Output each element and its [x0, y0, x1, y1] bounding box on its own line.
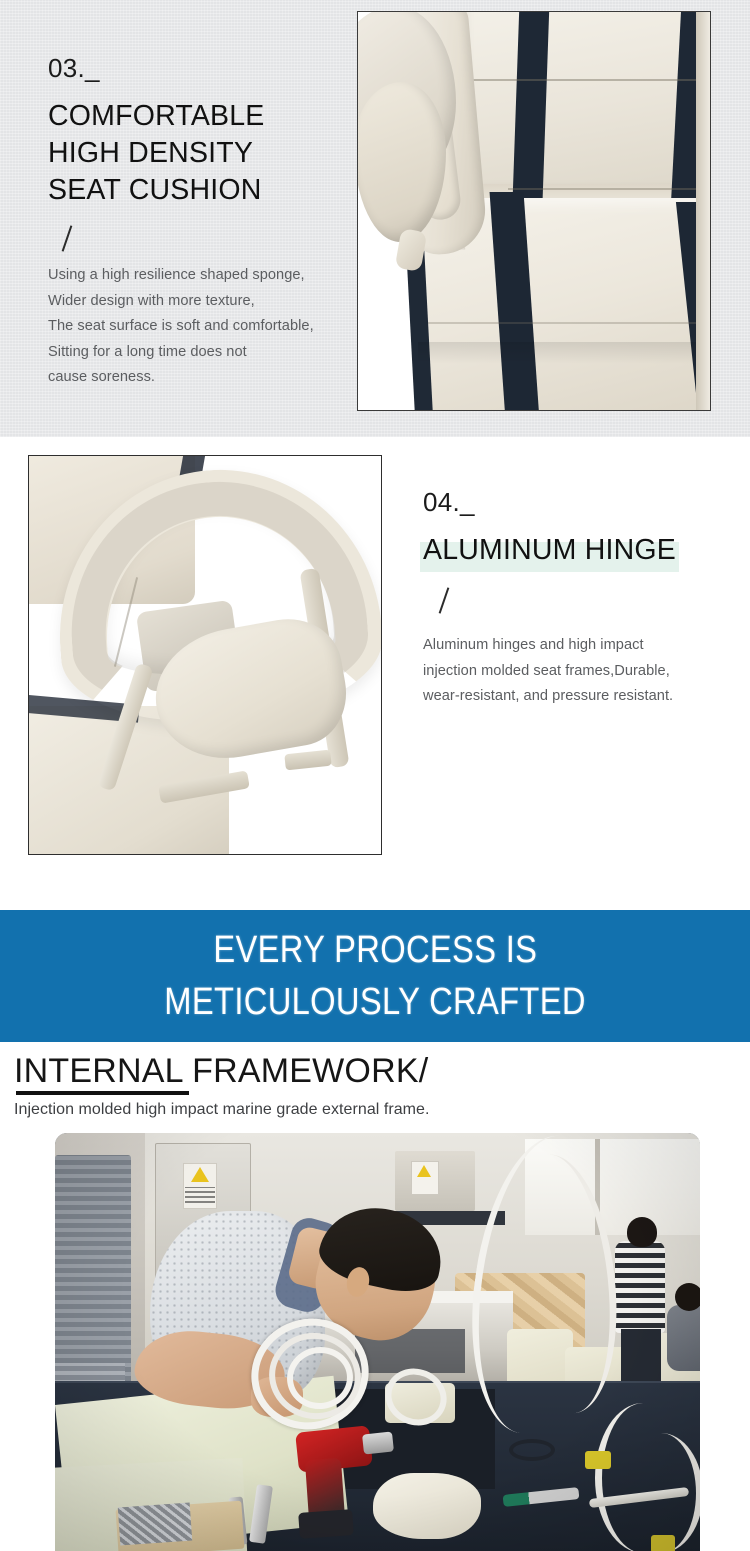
- internal-framework-heading-rest: FRAMEWORK/: [182, 1052, 428, 1090]
- cushion-seam-lower: [428, 322, 711, 324]
- section-03-heading-highlight: SEAT CUSHION: [48, 172, 262, 209]
- section-04-number: 04._: [423, 489, 723, 515]
- internal-framework-heading-underlined: INTERNAL: [14, 1052, 182, 1090]
- banner-line-2: METICULOUSLY CRAFTED: [164, 976, 585, 1028]
- factory-workshop-photo: [55, 1133, 700, 1551]
- photo-vignette: [55, 1133, 700, 1551]
- section-03-number: 03._: [48, 55, 358, 81]
- aluminum-hinge-photo: [28, 455, 382, 855]
- cushion-right-edge: [696, 11, 710, 411]
- section-03-heading-lines: COMFORTABLE HIGH DENSITY: [48, 100, 265, 169]
- seat-cushion-photo: [357, 11, 711, 411]
- section-04-heading: ALUMINUM HINGE: [423, 532, 723, 569]
- cushion-seam-mid: [508, 188, 711, 190]
- section-04-text-block: 04._ ALUMINUM HINGE Aluminum hinges and …: [423, 489, 723, 710]
- process-banner: EVERY PROCESS IS METICULOUSLY CRAFTED: [0, 910, 750, 1042]
- section-03-heading: COMFORTABLE HIGH DENSITY SEAT CUSHION: [48, 98, 358, 209]
- section-04-heading-highlight: ALUMINUM HINGE: [423, 532, 676, 569]
- cushion-front-lip: [418, 342, 711, 364]
- internal-framework-heading: INTERNAL FRAMEWORK/: [14, 1052, 428, 1091]
- internal-framework-subtitle: Injection molded high impact marine grad…: [14, 1101, 430, 1119]
- section-03-slash-divider: [58, 223, 84, 253]
- banner-line-1: EVERY PROCESS IS: [213, 924, 537, 976]
- internal-framework-underline: [16, 1091, 189, 1095]
- section-04-body-text: Aluminum hinges and high impact injectio…: [423, 633, 723, 710]
- section-03-text-block: 03._ COMFORTABLE HIGH DENSITY SEAT CUSHI…: [48, 55, 358, 391]
- aluminum-hinge-foot-right: [284, 750, 331, 771]
- section-04-slash-divider: [435, 585, 461, 615]
- cushion-seam-upper: [468, 79, 711, 81]
- section-03-body-text: Using a high resilience shaped sponge, W…: [48, 263, 358, 391]
